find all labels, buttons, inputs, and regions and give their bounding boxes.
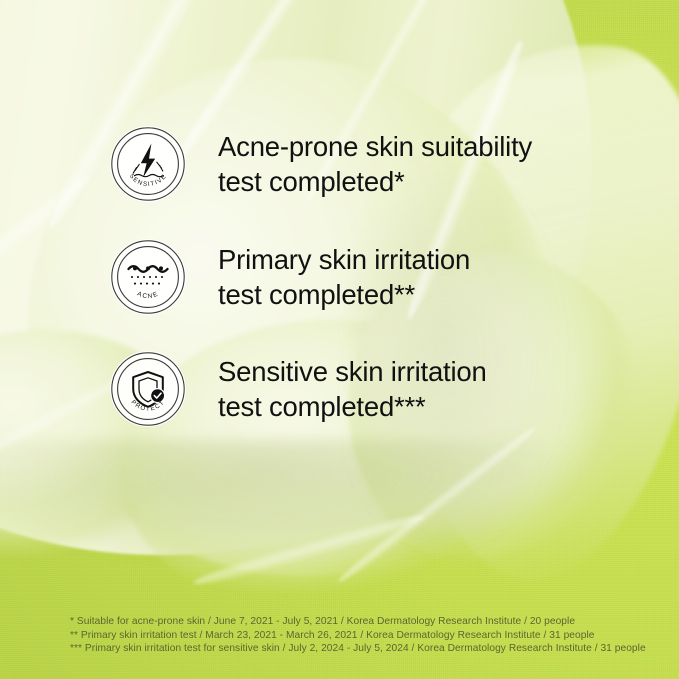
protect-badge: PROTECT: [110, 351, 186, 427]
skin-pores-acne-icon: ACNE: [110, 239, 186, 315]
sensitive-badge: SENSITIVE: [110, 126, 186, 202]
acne-badge-label: ACNE: [136, 290, 160, 300]
claim-text: Acne-prone skin suitability test complet…: [218, 129, 532, 199]
claim-text: Primary skin irritation test completed**: [218, 242, 470, 312]
footnote-line: * Suitable for acne-prone skin / June 7,…: [70, 615, 646, 629]
protect-badge-label: PROTECT: [130, 399, 167, 413]
sensitive-badge-label: SENSITIVE: [128, 173, 169, 189]
claim-row: PROTECT Sensitive skin irritation test c…: [110, 351, 487, 427]
lightning-bolt-sensitive-icon: SENSITIVE: [110, 126, 186, 202]
claims-content: SENSITIVE Acne-prone skin suitability te…: [0, 0, 679, 679]
claim-text: Sensitive skin irritation test completed…: [218, 354, 487, 424]
shield-check-protect-icon: PROTECT: [110, 351, 186, 427]
claim-row: ACNE Primary skin irritation test comple…: [110, 239, 470, 315]
acne-badge: ACNE: [110, 239, 186, 315]
footnotes: * Suitable for acne-prone skin / June 7,…: [70, 615, 646, 656]
footnote-line: ** Primary skin irritation test / March …: [70, 629, 646, 643]
promo-image: SENSITIVE Acne-prone skin suitability te…: [0, 0, 679, 679]
claim-row: SENSITIVE Acne-prone skin suitability te…: [110, 126, 532, 202]
footnote-line: *** Primary skin irritation test for sen…: [70, 642, 646, 656]
